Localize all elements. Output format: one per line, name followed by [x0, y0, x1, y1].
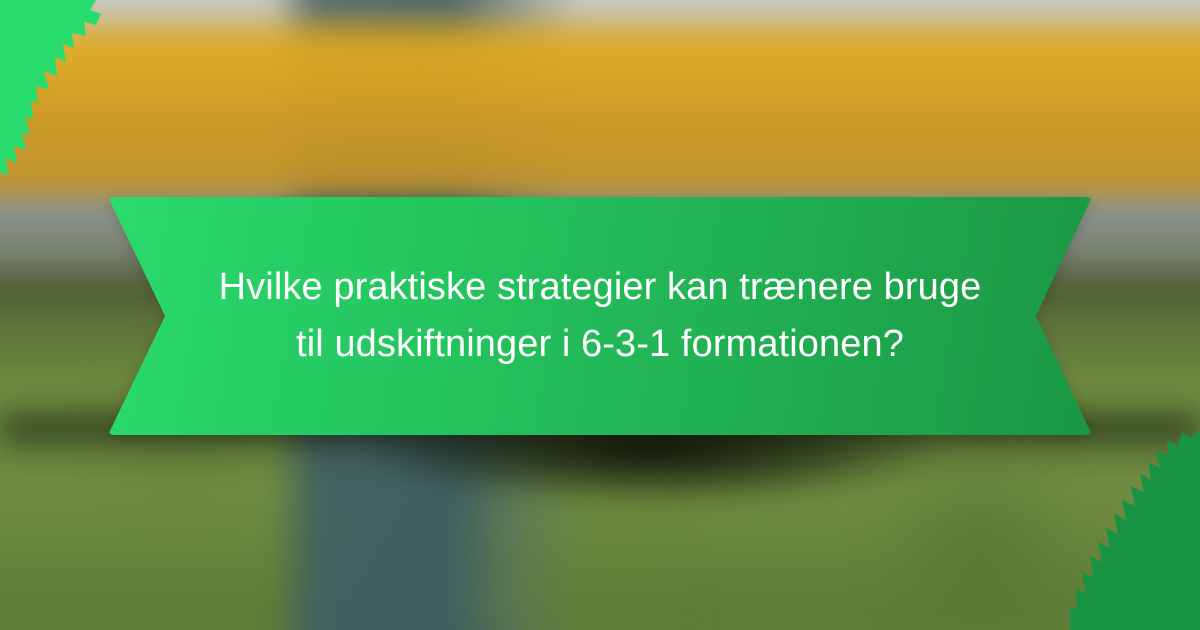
headline-line-2: til udskiftninger i 6-3-1 formationen? — [296, 316, 904, 373]
headline-line-1: Hvilke praktiske strategier kan trænere … — [219, 259, 982, 316]
torn-paper-shape-bottom-right — [1070, 430, 1200, 630]
promo-card: Hvilke praktiske strategier kan trænere … — [0, 0, 1200, 630]
headline-ribbon: Hvilke praktiske strategier kan trænere … — [108, 197, 1092, 435]
torn-paper-shape-top-left — [0, 0, 120, 215]
headline-text: Hvilke praktiske strategier kan trænere … — [108, 197, 1092, 435]
